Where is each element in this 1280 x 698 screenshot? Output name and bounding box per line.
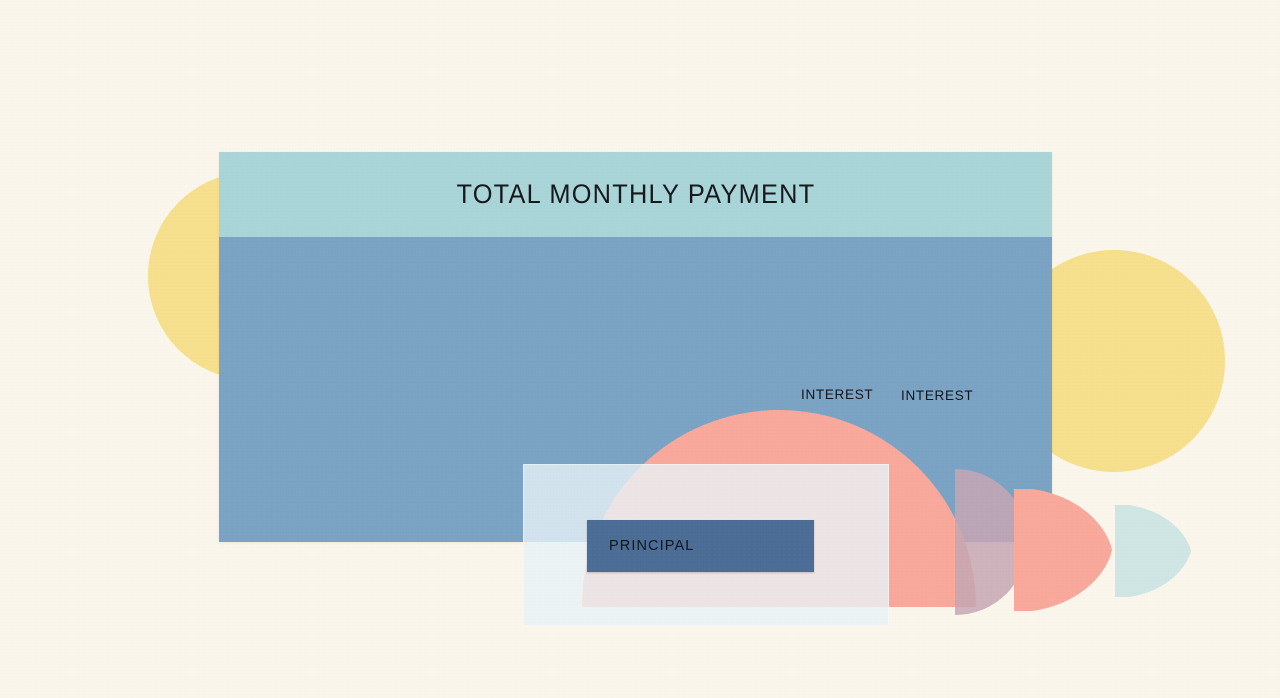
page-title: TOTAL MONTHLY PAYMENT: [456, 179, 815, 210]
interest-label-secondary: INTEREST: [901, 388, 973, 403]
interest-arch-pink-shape: [1014, 489, 1112, 611]
principal-bar: PRINCIPAL: [587, 520, 814, 572]
payment-panel: TOTAL MONTHLY PAYMENT PRINCIPAL: [219, 152, 1052, 542]
interest-label-primary: INTEREST: [801, 387, 873, 402]
interest-arch-teal-shape: [1115, 505, 1191, 597]
illustration-canvas: TOTAL MONTHLY PAYMENT PRINCIPAL INTEREST…: [0, 0, 1280, 698]
principal-label: PRINCIPAL: [609, 538, 694, 554]
panel-header: TOTAL MONTHLY PAYMENT: [219, 152, 1052, 237]
